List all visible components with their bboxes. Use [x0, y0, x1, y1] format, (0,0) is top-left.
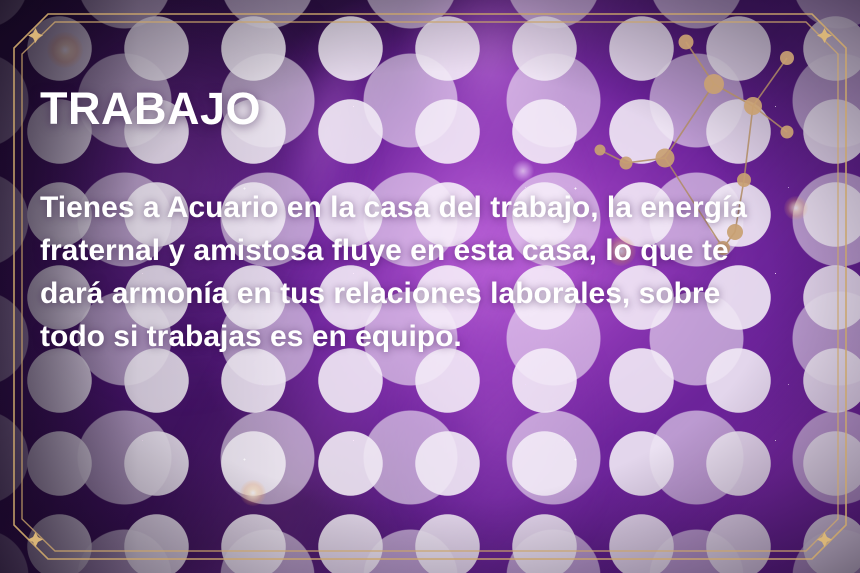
horoscope-body-text: Tienes a Acuario en la casa del trabajo,…	[40, 131, 780, 358]
page-title: TRABAJO	[40, 86, 830, 131]
horoscope-card: TRABAJO Tienes a Acuario en la casa del …	[0, 0, 860, 573]
card-content: TRABAJO Tienes a Acuario en la casa del …	[40, 86, 830, 358]
